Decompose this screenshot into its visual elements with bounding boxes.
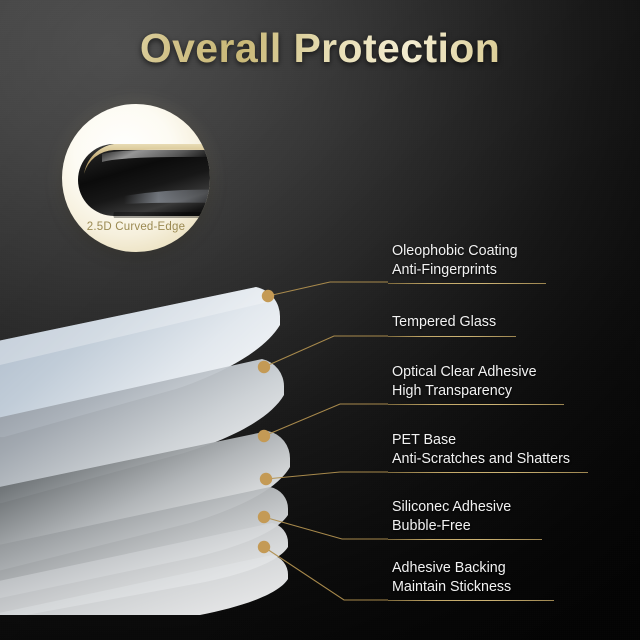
product-infographic: Overall Protection — [0, 0, 640, 640]
layer-rule-5 — [388, 539, 542, 540]
layer-label-6-title: Adhesive Backing — [392, 559, 511, 578]
layer-label-4-title: PET Base — [392, 431, 570, 450]
layer-label-5-title: Siliconec Adhesive — [392, 498, 511, 517]
layer-label-3: Optical Clear Adhesive High Transparency — [392, 363, 537, 400]
layer-label-1-subtitle: Anti-Fingerprints — [392, 261, 518, 280]
layer-label-3-subtitle: High Transparency — [392, 382, 537, 401]
layer-label-2: Tempered Glass — [392, 313, 496, 332]
layer-label-6: Adhesive Backing Maintain Stickness — [392, 559, 511, 596]
layer-label-3-title: Optical Clear Adhesive — [392, 363, 537, 382]
layer-rule-6 — [388, 600, 554, 601]
layer-label-6-subtitle: Maintain Stickness — [392, 578, 511, 597]
layer-label-1-title: Oleophobic Coating — [392, 242, 518, 261]
layer-rule-1 — [388, 283, 546, 284]
layer-label-5: Siliconec Adhesive Bubble-Free — [392, 498, 511, 535]
layer-rule-2 — [388, 336, 516, 337]
layer-stack — [0, 255, 360, 615]
layer-sheets — [0, 255, 360, 615]
layer-label-4: PET Base Anti-Scratches and Shatters — [392, 431, 570, 468]
layer-label-2-title: Tempered Glass — [392, 313, 496, 332]
page-title: Overall Protection — [0, 26, 640, 71]
layer-rule-3 — [388, 404, 564, 405]
layer-label-5-subtitle: Bubble-Free — [392, 517, 511, 536]
layer-rule-4 — [388, 472, 588, 473]
layer-label-4-subtitle: Anti-Scratches and Shatters — [392, 450, 570, 469]
curved-edge-inset: 2.5D Curved-Edge — [62, 104, 210, 252]
inset-caption: 2.5D Curved-Edge — [62, 221, 210, 233]
layer-label-1: Oleophobic Coating Anti-Fingerprints — [392, 242, 518, 279]
